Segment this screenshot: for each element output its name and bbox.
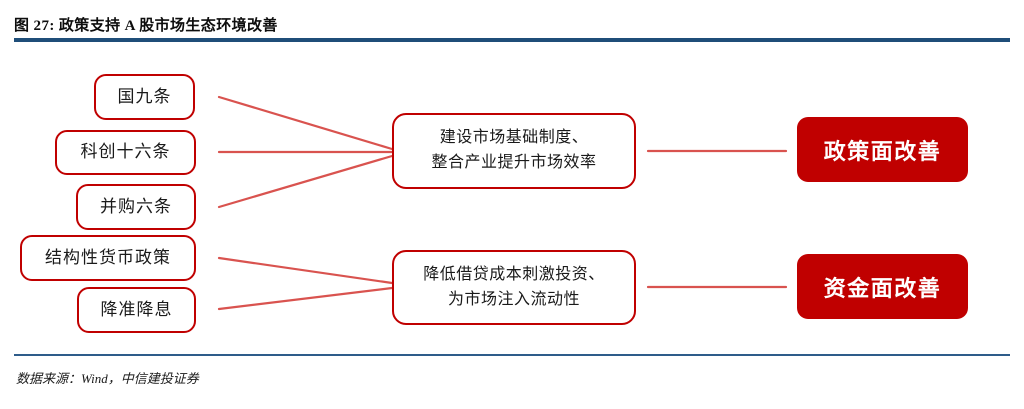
policy-node-4-label: 结构性货币政策 (45, 248, 171, 268)
edge-p3-e1 (219, 156, 392, 207)
footer-divider (14, 354, 1010, 356)
edge-p4-e2 (219, 258, 392, 283)
policy-node-5-label: 降准降息 (101, 300, 173, 320)
policy-node-3-label: 并购六条 (100, 197, 172, 217)
page-title: 图 27: 政策支持 A 股市场生态环境改善 (14, 14, 278, 35)
outcome-node-1[interactable]: 政策面改善 (797, 117, 968, 182)
effect-node-2-text: 降低借贷成本刺激投资、 为市场注入流动性 (423, 263, 605, 313)
policy-node-2[interactable]: 科创十六条 (55, 130, 196, 175)
policy-node-1-label: 国九条 (118, 87, 172, 107)
effect-node-2-line2: 为市场注入流动性 (448, 291, 580, 308)
effect-node-1-text: 建设市场基础制度、 整合产业提升市场效率 (431, 126, 596, 176)
policy-node-5[interactable]: 降准降息 (77, 287, 196, 333)
header-divider (14, 38, 1010, 42)
outcome-node-2-label: 资金面改善 (824, 271, 942, 303)
policy-node-1[interactable]: 国九条 (94, 74, 195, 120)
source-note: 数据来源：Wind，中信建投证券 (16, 368, 199, 387)
effect-node-2-line1: 降低借贷成本刺激投资、 (423, 266, 605, 283)
effect-node-1-line1: 建设市场基础制度、 (440, 129, 589, 146)
effect-node-1-line2: 整合产业提升市场效率 (431, 154, 596, 171)
policy-node-4[interactable]: 结构性货币政策 (20, 235, 196, 281)
figure-panel: 图 27: 政策支持 A 股市场生态环境改善 国九条 科创十六条 并购六条 结构… (0, 0, 1024, 409)
policy-node-3[interactable]: 并购六条 (76, 184, 196, 230)
edge-p5-e2 (219, 288, 392, 309)
outcome-node-2[interactable]: 资金面改善 (797, 254, 968, 319)
effect-node-1[interactable]: 建设市场基础制度、 整合产业提升市场效率 (392, 113, 636, 189)
outcome-node-1-label: 政策面改善 (824, 134, 942, 166)
policy-node-2-label: 科创十六条 (81, 142, 171, 162)
edge-p1-e1 (219, 97, 392, 149)
effect-node-2[interactable]: 降低借贷成本刺激投资、 为市场注入流动性 (392, 250, 636, 325)
